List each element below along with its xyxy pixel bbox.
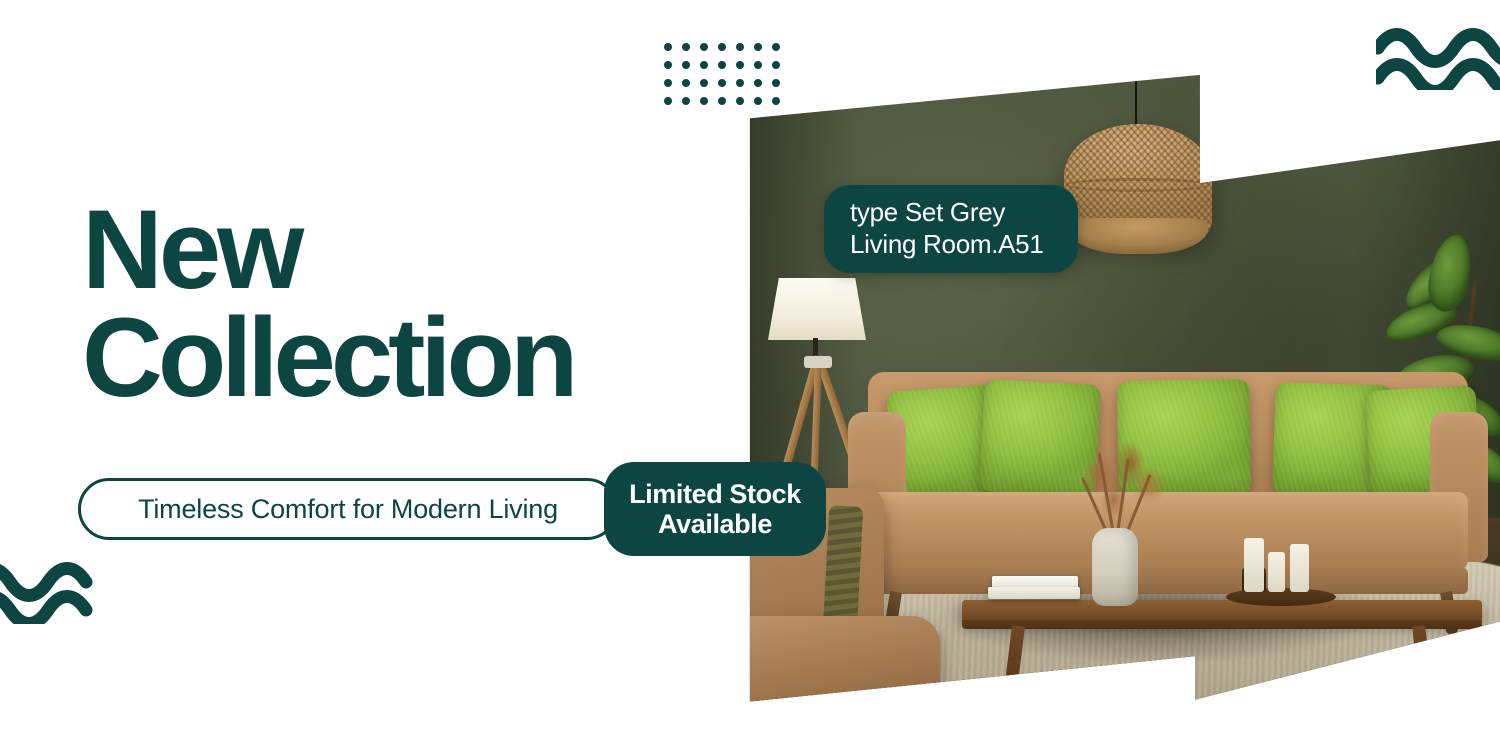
headline-line-2: Collection [82, 304, 702, 412]
grid-dot [736, 79, 744, 87]
grid-dot [718, 97, 726, 105]
grid-dot [700, 43, 708, 51]
candle [1244, 538, 1264, 592]
grid-dot [736, 43, 744, 51]
stock-badge-line2: Available [658, 509, 772, 539]
grid-dot [772, 97, 780, 105]
limited-stock-badge[interactable]: Limited Stock Available [604, 462, 826, 556]
page-title: New Collection [82, 196, 702, 411]
grid-dot [664, 79, 672, 87]
grid-dot [700, 97, 708, 105]
grid-dot [736, 61, 744, 69]
grid-dot [772, 79, 780, 87]
grid-dot [754, 61, 762, 69]
wave-decoration-bottom-left [0, 562, 112, 624]
wave-decoration-top-right [1376, 26, 1500, 90]
grid-dot [718, 79, 726, 87]
coffee-table-top [962, 600, 1482, 622]
grid-dot [700, 61, 708, 69]
grid-dot [682, 43, 690, 51]
interior-scene [740, 60, 1500, 708]
grid-dot [736, 97, 744, 105]
floor-lamp-shade [768, 278, 866, 340]
stock-badge-line1: Limited Stock [629, 479, 801, 509]
product-tag-badge[interactable]: type Set Grey Living Room.A51 [824, 185, 1078, 273]
living-room-photo [740, 60, 1500, 708]
grid-dot [754, 43, 762, 51]
grid-dot [700, 79, 708, 87]
dot-grid-decoration [664, 43, 780, 105]
candle [1290, 544, 1309, 592]
grid-dot [772, 43, 780, 51]
table-book [988, 587, 1080, 599]
grid-dot [718, 43, 726, 51]
grid-dot [682, 61, 690, 69]
grid-dot [664, 43, 672, 51]
sofa-base [868, 568, 1468, 594]
grid-dot [664, 97, 672, 105]
ottoman [740, 616, 940, 708]
pendant-cord [1135, 60, 1137, 132]
grid-dot [754, 79, 762, 87]
tagline-pill: Timeless Comfort for Modern Living [78, 478, 618, 540]
pendant-rings [1066, 178, 1210, 192]
grid-dot [682, 79, 690, 87]
grid-dot [754, 97, 762, 105]
product-tag-line2: Living Room.A51 [850, 229, 1078, 261]
candle [1268, 552, 1285, 592]
grid-dot [772, 61, 780, 69]
tagline-text: Timeless Comfort for Modern Living [138, 494, 558, 525]
floor-lamp-collar [804, 356, 832, 368]
product-tag-line1: type Set Grey [850, 197, 1078, 229]
ceramic-vase [1092, 528, 1138, 606]
plant-leaf [1425, 232, 1475, 315]
grid-dot [664, 61, 672, 69]
coffee-table-edge [962, 620, 1482, 629]
grid-dot [682, 97, 690, 105]
headline-line-1: New [82, 196, 702, 304]
grid-dot [718, 61, 726, 69]
promo-banner: type Set Grey Living Room.A51 New Collec… [0, 0, 1500, 750]
